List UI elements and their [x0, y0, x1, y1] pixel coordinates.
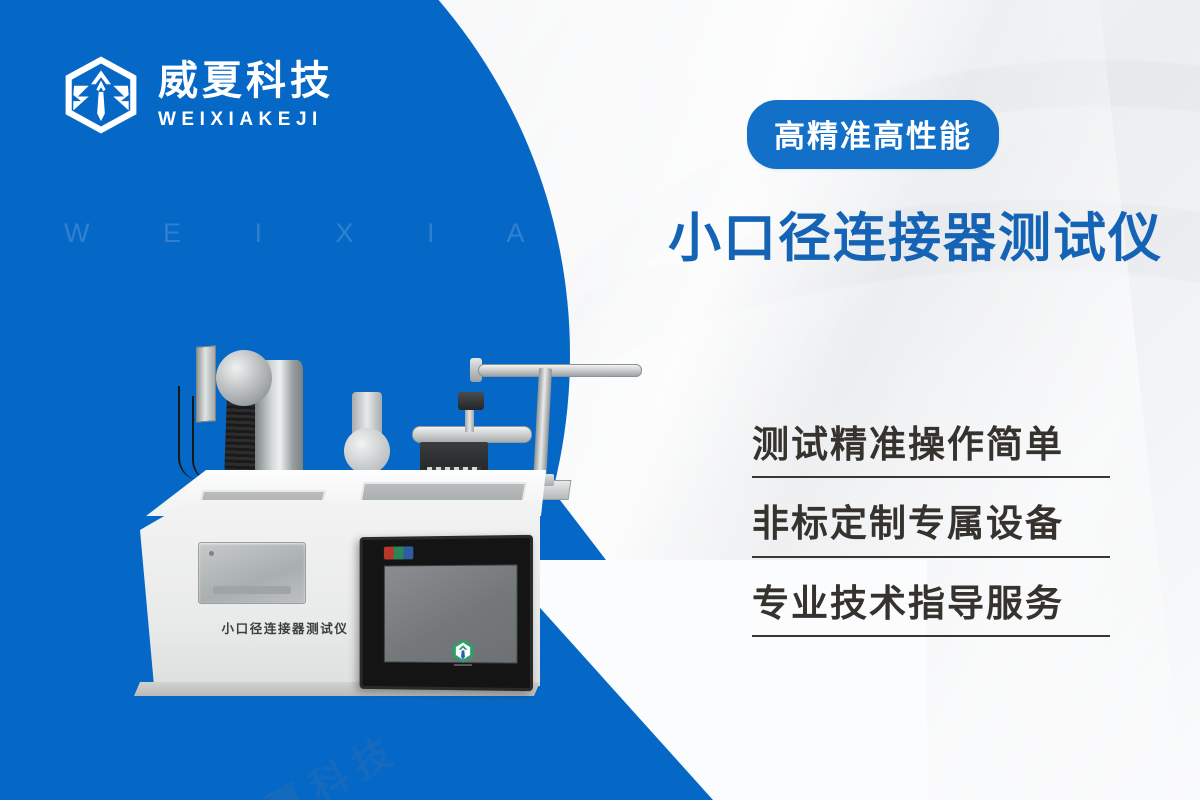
feature-label: 测试精准操作简单 [752, 424, 1112, 465]
hmi-touchscreen[interactable] [360, 535, 533, 691]
brand-name-en: WEIXIAKEJI [158, 110, 334, 129]
lever-rod [478, 364, 642, 377]
paddle-disc [344, 428, 390, 474]
lever-arm-assembly [533, 368, 552, 485]
product-photo: 小口径连接器测试仪 威夏科技 威夏科技 [120, 330, 680, 750]
brand-logo: 威夏科技 WEIXIAKEJI [62, 55, 334, 135]
feature-list: 测试精准操作简单 非标定制专属设备 专业技术指导服务 [752, 424, 1112, 662]
access-panel-plate [198, 542, 306, 604]
micrometer-post [465, 408, 474, 432]
micrometer-head [458, 392, 484, 410]
corner-company-logo-icon [450, 638, 476, 668]
product-banner: W E I X I A K E J I 威夏科技 WEIXIAKEJI 高精准高… [0, 0, 1200, 800]
hexagon-arrow-logo-icon [62, 55, 140, 135]
brand-name-cn: 威夏科技 [158, 61, 334, 101]
feature-divider [752, 635, 1110, 637]
brand-logo-text: 威夏科技 WEIXIAKEJI [158, 61, 334, 129]
feature-item: 专业技术指导服务 [752, 583, 1112, 637]
pulley-disc [216, 350, 272, 406]
highlight-badge: 高精准高性能 [747, 100, 999, 169]
feature-divider [752, 476, 1110, 478]
mount-bracket [196, 345, 216, 422]
feature-label: 专业技术指导服务 [752, 583, 1112, 624]
page-title: 小口径连接器测试仪 [668, 196, 1163, 272]
feature-item: 非标定制专属设备 [752, 503, 1112, 557]
hmi-brand-badge-icon [384, 546, 413, 559]
feature-label: 非标定制专属设备 [752, 503, 1112, 544]
feature-item: 测试精准操作简单 [752, 424, 1112, 478]
brand-watermark: W E I X I A K E J I [64, 218, 724, 249]
feature-divider [752, 556, 1110, 558]
